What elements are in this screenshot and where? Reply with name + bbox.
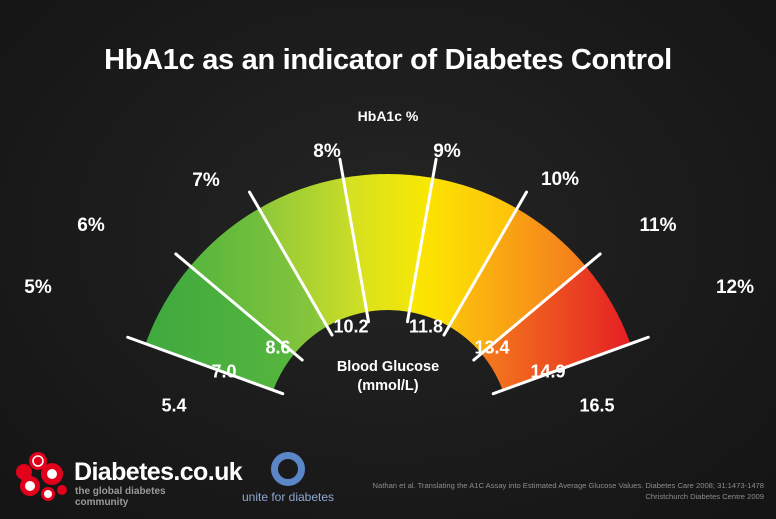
hba1c-tick-label: 8% [313, 141, 340, 163]
glucose-tick-label: 10.2 [333, 317, 368, 338]
brand-name: Diabetes.co.uk [74, 458, 242, 487]
blood-glucose-line1: Blood Glucose [337, 359, 439, 375]
hba1c-tick-label: 6% [77, 215, 104, 237]
glucose-tick-label: 13.4 [474, 338, 509, 359]
diabetes-couk-logo[interactable]: Diabetes.co.uk the global diabetes commu… [16, 452, 216, 510]
red-circles-logo-icon [16, 452, 72, 504]
hba1c-tick-label: 12% [716, 277, 754, 299]
hba1c-tick-label: 7% [192, 170, 219, 192]
citation-line-2: Christchurch Diabetes Centre 2009 [344, 491, 764, 502]
blue-circle-icon [271, 452, 305, 486]
blood-glucose-axis-label: Blood Glucose (mmol/L) [0, 358, 776, 396]
glucose-tick-label: 5.4 [161, 396, 186, 417]
hba1c-tick-label: 10% [541, 169, 579, 191]
glucose-tick-label: 8.6 [265, 338, 290, 359]
hba1c-tick-label: 11% [640, 215, 677, 237]
blood-glucose-line2: (mmol/L) [357, 378, 418, 394]
brand-tagline: the global diabetes community [75, 486, 216, 508]
unite-for-diabetes-logo[interactable]: unite for diabetes [228, 452, 348, 504]
glucose-tick-label: 11.8 [409, 317, 443, 338]
citation-line-1: Nathan et al. Translating the A1C Assay … [344, 480, 764, 491]
hba1c-tick-label: 9% [433, 141, 460, 163]
hba1c-tick-label: 5% [24, 277, 51, 299]
infographic-canvas: HbA1c as an indicator of Diabetes Contro… [0, 0, 776, 519]
source-citation: Nathan et al. Translating the A1C Assay … [344, 480, 764, 502]
hba1c-gauge-arc [0, 0, 776, 519]
unite-for-diabetes-label: unite for diabetes [228, 490, 348, 504]
glucose-tick-label: 16.5 [579, 396, 614, 417]
